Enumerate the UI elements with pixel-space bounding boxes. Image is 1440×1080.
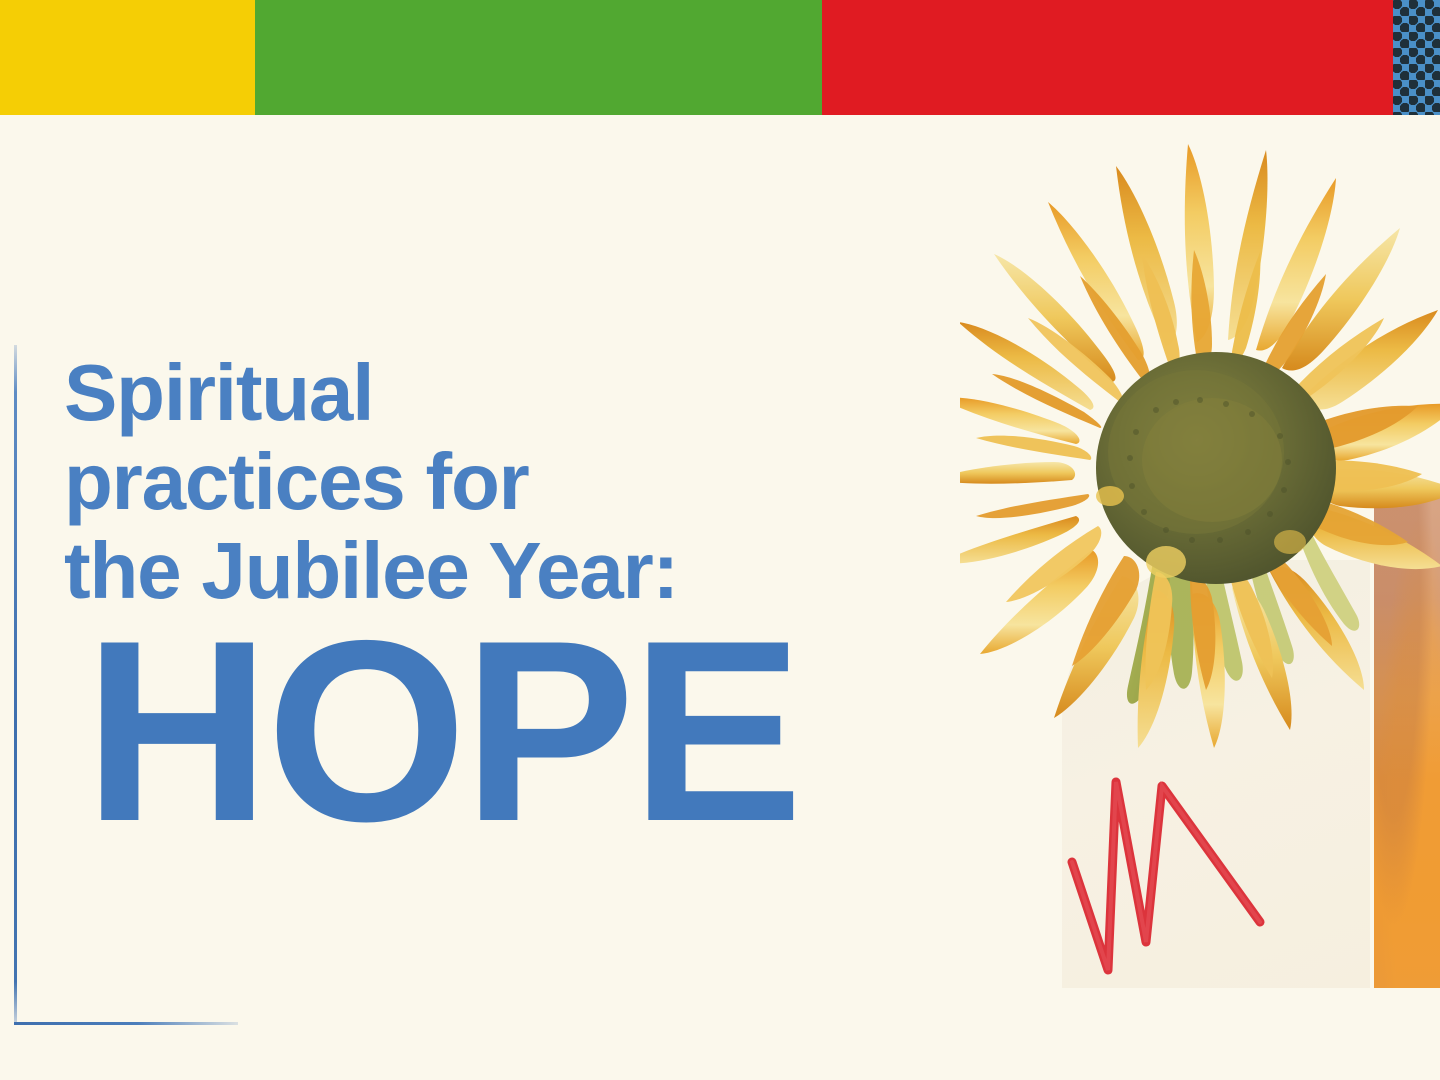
dot-pattern-icon	[1393, 0, 1440, 115]
banner-band-dotted-blue	[1393, 0, 1440, 115]
headline-line-2: practices for	[64, 437, 1054, 526]
poster-canvas: Spiritual practices for the Jubilee Year…	[0, 0, 1440, 1080]
bracket-vertical-line	[14, 345, 17, 1022]
banner-band-green	[255, 0, 822, 115]
bracket-horizontal-line	[14, 1022, 238, 1025]
panel-divider	[1370, 490, 1374, 988]
headline-lines: Spiritual practices for the Jubilee Year…	[64, 348, 1054, 616]
cream-panel	[1062, 560, 1372, 988]
headline-line-1: Spiritual	[64, 348, 1054, 437]
orange-watercolor-panel	[1374, 490, 1440, 988]
headline-block: Spiritual practices for the Jubilee Year…	[64, 348, 1054, 841]
headline-emphasis-hope: HOPE	[84, 620, 1054, 842]
top-color-banner	[0, 0, 1440, 115]
banner-band-red	[822, 0, 1393, 115]
banner-band-yellow	[0, 0, 255, 115]
